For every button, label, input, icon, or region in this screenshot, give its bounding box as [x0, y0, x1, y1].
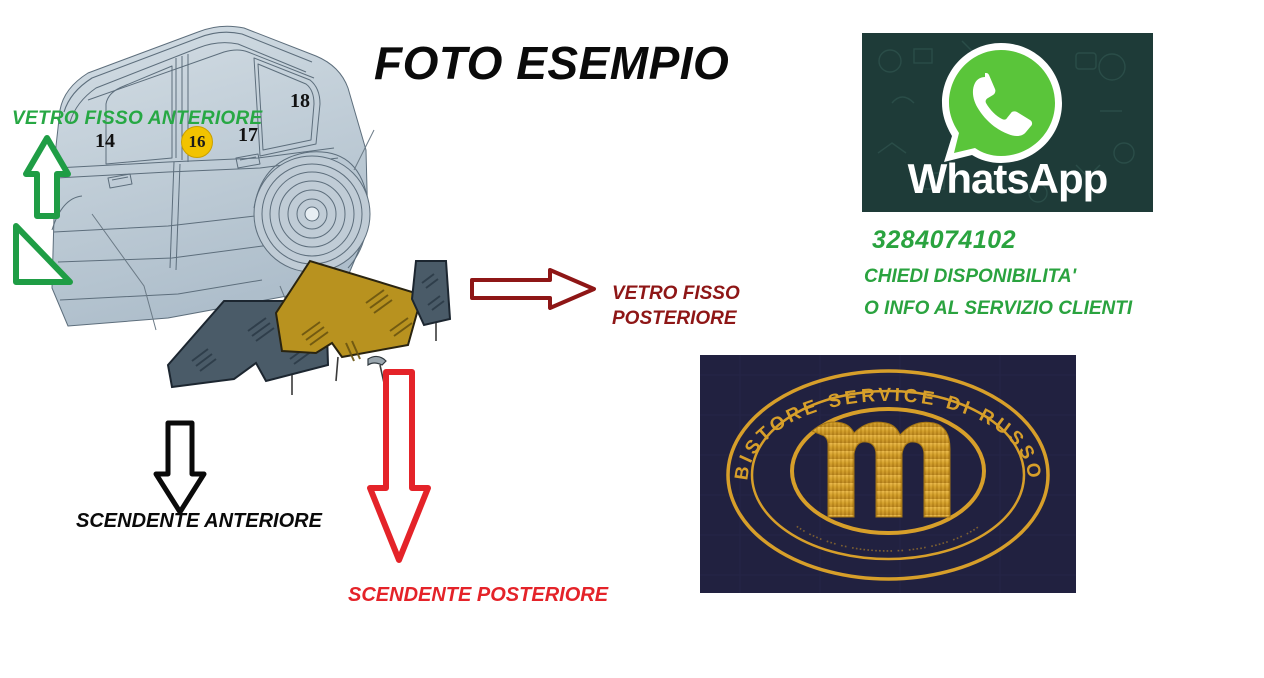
label-front-fixed-glass: VETRO FISSO ANTERIORE [12, 108, 263, 130]
label-rear-fixed-glass-line2: POSTERIORE [612, 306, 740, 331]
down-arrow-outline-icon-black [150, 418, 210, 518]
shop-logo: MRICAMBISTORE SERVICE DI RUSSO MARCO ▪▪▪… [700, 355, 1076, 593]
label-rear-fixed-glass: VETRO FISSO POSTERIORE [612, 281, 740, 331]
down-arrow-outline-icon-red [366, 368, 432, 566]
part-18-quarter-glass [412, 261, 450, 341]
label-rear-fixed-glass-line1: VETRO FISSO [612, 281, 740, 306]
contact-text-line1: CHIEDI DISPONIBILITA' [864, 266, 1076, 288]
up-arrow-outline-icon [8, 132, 78, 292]
phone-number[interactable]: 3284074102 [872, 226, 1016, 255]
right-arrow-outline-icon [468, 268, 598, 310]
part-number-18: 18 [290, 90, 310, 113]
label-front-drop-glass: SCENDENTE ANTERIORE [76, 510, 322, 533]
shop-logo-icon: MRICAMBISTORE SERVICE DI RUSSO MARCO ▪▪▪… [700, 355, 1076, 593]
whatsapp-wordmark: WhatsApp [862, 155, 1153, 203]
contact-text-line2: O INFO AL SERVIZIO CLIENTI [864, 298, 1132, 320]
part-number-14: 14 [95, 130, 115, 153]
part-badge-16: 16 [181, 126, 213, 158]
page-title: FOTO ESEMPIO [374, 36, 729, 90]
label-rear-drop-glass: SCENDENTE POSTERIORE [348, 584, 608, 607]
whatsapp-banner: WhatsApp [862, 33, 1153, 212]
svg-text:▪▪▪ ▪▪▪▪ ▪▪▪ ▪▪ ▪▪▪▪▪▪▪▪▪▪▪ ▪▪: ▪▪▪ ▪▪▪▪ ▪▪▪ ▪▪ ▪▪▪▪▪▪▪▪▪▪▪ ▪▪ ▪▪▪▪▪ ▪▪▪… [794, 524, 982, 555]
